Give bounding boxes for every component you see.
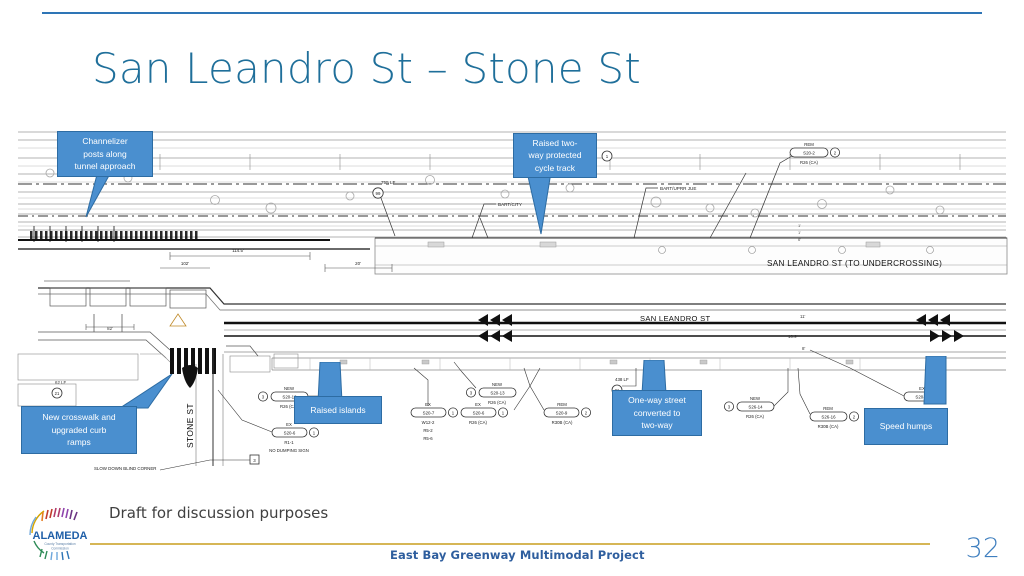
svg-text:102': 102' [181,261,189,266]
svg-text:R26 (CA): R26 (CA) [469,420,487,425]
svg-text:BART/UPRR JUE: BART/UPRR JUE [660,186,696,191]
callout-line: two-way [628,419,686,432]
callout-line: Channelizer [75,135,136,148]
svg-text:NEW: NEW [492,382,503,387]
svg-text:21: 21 [55,391,60,396]
svg-text:R26 (CA): R26 (CA) [746,414,764,419]
callout-cycle-track[interactable]: Raised two- way protected cycle track [513,133,597,178]
callout-speed-humps[interactable]: Speed humps [864,408,948,445]
callout-line: upgraded curb [42,424,115,437]
svg-text:S20-2: S20-2 [803,151,815,156]
callout-line: cycle track [529,162,582,175]
svg-text:S20-6: S20-6 [284,431,296,436]
callout-line: way protected [529,149,582,162]
callout-line: Speed humps [880,420,932,433]
callout-line: Raised islands [310,404,365,417]
svg-text:114.5': 114.5' [232,248,244,253]
svg-text:STONE ST: STONE ST [185,403,195,448]
svg-text:R26 (CA): R26 (CA) [800,160,818,165]
callout-raised-islands[interactable]: Raised islands [294,396,382,424]
callout-line: ramps [42,436,115,449]
svg-text:R30B (CA): R30B (CA) [818,424,839,429]
slide-canvas: San Leandro St – Stone St [0,0,1024,576]
svg-text:10.9': 10.9' [788,334,798,339]
svg-text:S20-9: S20-9 [556,411,568,416]
logo-name: ALAMEDA [33,530,88,542]
callout-line: One-way street [628,394,686,407]
svg-text:BART/CITY: BART/CITY [498,202,522,207]
svg-text:W12-2: W12-2 [422,420,435,425]
callout-tail-cycle-track [525,172,561,236]
callout-line: posts along [75,148,136,161]
page-title: San Leandro St – Stone St [92,40,952,98]
svg-text:SAN LEANDRO ST (TO UNDERCROSSI: SAN LEANDRO ST (TO UNDERCROSSING) [767,259,942,268]
svg-text:NEW: NEW [284,386,295,391]
svg-text:S20-13: S20-13 [490,391,505,396]
svg-text:R26 (CA): R26 (CA) [488,400,506,405]
svg-text:20': 20' [355,261,361,266]
svg-text:S20-7: S20-7 [423,411,435,416]
svg-text:EX: EX [475,402,481,407]
svg-text:11': 11' [800,314,806,319]
svg-text:NEW: NEW [750,396,761,401]
svg-text:EX: EX [286,422,292,427]
svg-text:1': 1' [798,230,801,235]
logo-subtitle-1: County Transportation [44,542,76,546]
svg-text:6': 6' [798,237,801,242]
footer-project-title: East Bay Greenway Multimodal Project [390,548,645,562]
logo-subtitle-2: Commission [51,547,69,551]
svg-text:SAN LEANDRO ST: SAN LEANDRO ST [640,314,711,323]
callout-line: tunnel approach [75,160,136,173]
svg-text:NO DUMPING SIGN: NO DUMPING SIGN [269,448,309,453]
svg-text:REM: REM [804,142,814,147]
svg-text:R5-6: R5-6 [423,436,433,441]
svg-text:REM: REM [823,406,833,411]
alameda-ctc-logo: ALAMEDA County Transportation Commission [22,505,100,561]
svg-text:S20-6: S20-6 [473,411,485,416]
svg-text:S26-16: S26-16 [821,415,836,420]
svg-text:S26-14: S26-14 [748,405,763,410]
svg-text:R1-1: R1-1 [284,440,294,445]
callout-line: Raised two- [529,137,582,150]
svg-text:REM: REM [557,402,567,407]
callout-line: converted to [628,407,686,420]
footer-divider [90,543,930,545]
svg-text:R30B (CA): R30B (CA) [552,420,573,425]
callout-one-way[interactable]: One-way street converted to two-way [612,390,702,436]
svg-text:438 LF: 438 LF [615,377,629,382]
svg-text:99: 99 [376,191,381,196]
callout-tail-speed-humps [920,356,950,406]
callout-crosswalk[interactable]: New crosswalk and upgraded curb ramps [21,406,137,454]
callout-line: New crosswalk and [42,411,115,424]
draft-note: Draft for discussion purposes [109,504,328,522]
svg-text:R5-2: R5-2 [423,428,433,433]
svg-text:SLOW DOWN BLIND CORNER: SLOW DOWN BLIND CORNER [94,466,156,471]
page-number: 32 [966,533,1000,564]
svg-text:1': 1' [798,223,801,228]
svg-text:8': 8' [802,346,805,351]
svg-text:755 LF: 755 LF [381,180,395,185]
top-divider [42,12,982,14]
callout-channelizer[interactable]: Channelizer posts along tunnel approach [57,131,153,177]
